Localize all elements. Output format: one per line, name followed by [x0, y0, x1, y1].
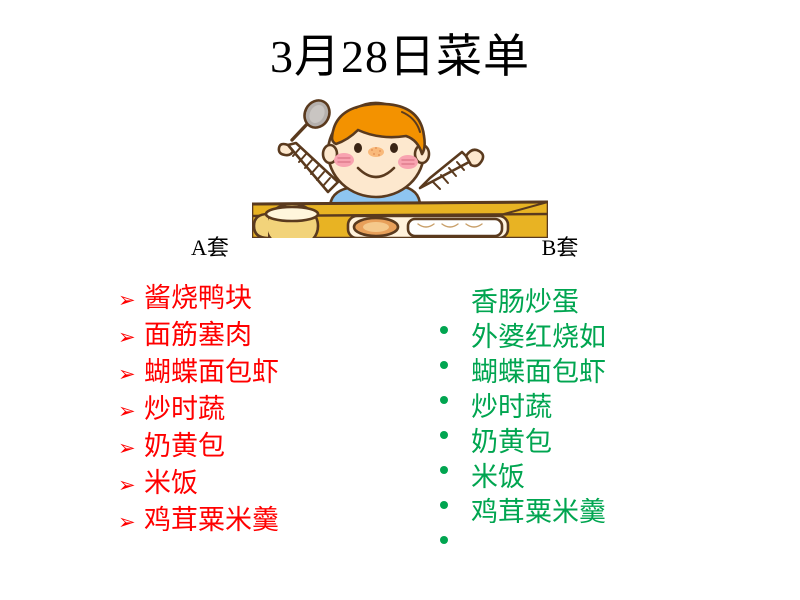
list-item: ➢ 鸡茸粟米羹: [118, 503, 418, 540]
arrow-bullet-icon: ➢: [118, 320, 144, 355]
menu-slide: 3月28日菜单: [0, 0, 800, 600]
menu-list-a: ➢ 酱烧鸭块 ➢ 面筋塞肉 ➢ 蝴蝶面包虾 ➢ 炒时蔬 ➢ 奶黄包 ➢ 米饭 ➢…: [118, 281, 418, 540]
menu-item-label: 酱烧鸭块: [144, 281, 252, 316]
menu-item-label: 奶黄包: [471, 425, 552, 460]
menu-item-label: 炒时蔬: [471, 390, 552, 425]
menu-item-label: 鸡茸粟米羹: [144, 503, 279, 538]
arrow-bullet-icon: ➢: [118, 468, 144, 503]
arrow-bullet-icon: ➢: [118, 283, 144, 318]
list-item: ➢ 米饭: [118, 466, 418, 503]
menu-item-label: 奶黄包: [144, 429, 225, 464]
boy-eating-illustration: [252, 96, 548, 238]
menu-item-label: 外婆红烧如: [471, 320, 606, 355]
list-item: 鸡茸粟米羹: [437, 495, 737, 530]
menu-item-label: 炒时蔬: [144, 392, 225, 427]
column-header-a: A套: [120, 230, 300, 262]
menu-item-label: 鸡茸粟米羹: [471, 495, 606, 530]
arrow-bullet-icon: ➢: [118, 505, 144, 540]
menu-item-label: 米饭: [144, 466, 198, 501]
arrow-bullet-icon: ➢: [118, 394, 144, 429]
menu-item-label: 香肠炒蛋: [471, 285, 579, 320]
menu-item-label: 米饭: [471, 460, 525, 495]
list-item: ➢ 炒时蔬: [118, 392, 418, 429]
list-item: 香肠炒蛋: [437, 285, 737, 320]
menu-item-label: 蝴蝶面包虾: [471, 355, 606, 390]
arrow-bullet-icon: ➢: [118, 431, 144, 466]
list-item: 外婆红烧如: [437, 320, 737, 355]
list-item: ➢ 蝴蝶面包虾: [118, 355, 418, 392]
list-item: ➢ 酱烧鸭块: [118, 281, 418, 318]
list-item: 炒时蔬: [437, 390, 737, 425]
menu-list-b: 香肠炒蛋 外婆红烧如 蝴蝶面包虾 炒时蔬 奶黄包 米饭 鸡茸粟米羹: [437, 285, 737, 530]
menu-item-label: 蝴蝶面包虾: [144, 355, 279, 390]
arrow-bullet-icon: ➢: [118, 357, 144, 392]
list-item: ➢ 奶黄包: [118, 429, 418, 466]
column-header-b: B套: [470, 230, 650, 262]
list-item: 奶黄包: [437, 425, 737, 460]
page-title: 3月28日菜单: [0, 34, 800, 80]
list-item: 蝴蝶面包虾: [437, 355, 737, 390]
list-item: 米饭: [437, 460, 737, 495]
menu-item-label: 面筋塞肉: [144, 318, 252, 353]
list-item: ➢ 面筋塞肉: [118, 318, 418, 355]
